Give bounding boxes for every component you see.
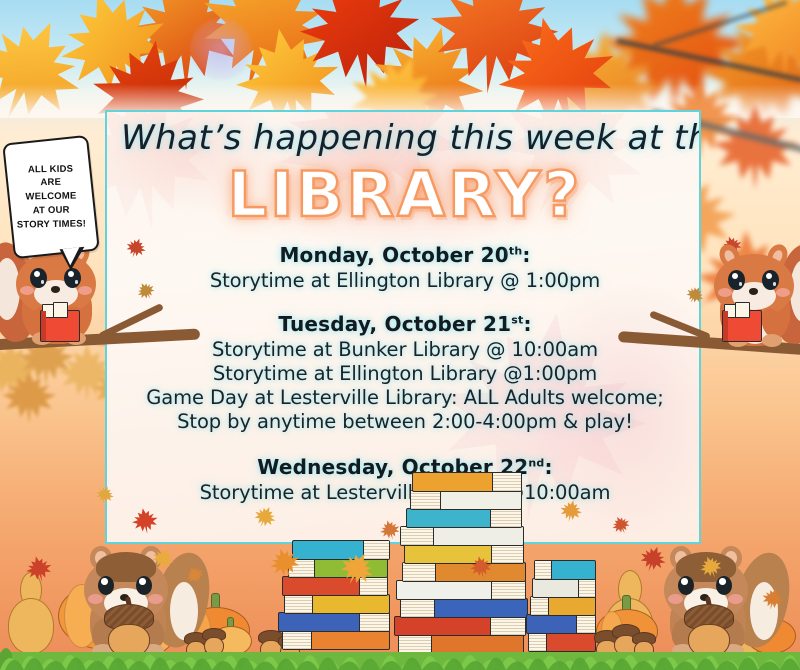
all-kids-welcome-bubble: ALL KIDS ARE WELCOME AT OUR STORY TIMES!: [2, 135, 100, 259]
library-events-poster: What’s happening this week at the LIBRAR…: [0, 0, 800, 670]
day-heading-monday: Monday, October 20th:: [107, 243, 701, 267]
leaf-icon: [130, 506, 160, 536]
book-icon: [722, 310, 762, 342]
bubble-line: AT OUR: [33, 204, 70, 218]
schedule-day-wednesday: Wednesday, October 22nd: Storytime at Le…: [107, 455, 701, 504]
spacer: [107, 293, 701, 312]
page-title: What’s happening this week at the: [121, 118, 693, 158]
events-content-panel: What’s happening this week at the LIBRAR…: [105, 110, 701, 544]
bubble-line: STORY TIMES!: [17, 217, 86, 232]
event-item: Storytime at Bunker Library @ 10:00am: [107, 338, 701, 361]
event-item: Storytime at Lesterville Library @10:00a…: [107, 481, 701, 504]
schedule-list: Monday, October 20th: Storytime at Ellin…: [107, 243, 701, 505]
event-item: Game Day at Lesterville Library: ALL Adu…: [107, 386, 701, 409]
bubble-line: ALL KIDS: [28, 162, 73, 177]
bubble-line: ARE: [40, 176, 61, 190]
spacer: [107, 434, 701, 455]
leaf-icon: [468, 554, 494, 580]
book-icon: [40, 310, 80, 342]
event-item: Stop by anytime between 2:00-4:00pm & pl…: [107, 410, 701, 433]
schedule-day-monday: Monday, October 20th: Storytime at Ellin…: [107, 243, 701, 292]
bubble-line: WELCOME: [25, 190, 76, 205]
event-item: Storytime at Ellington Library @ 1:00pm: [107, 269, 701, 292]
event-item: Storytime at Ellington Library @1:00pm: [107, 362, 701, 385]
grass-strip: [0, 636, 800, 670]
library-wordmark: LIBRARY?: [107, 158, 701, 231]
lens-flare-bokeh: [190, 18, 252, 80]
day-heading-wednesday: Wednesday, October 22nd:: [107, 455, 701, 479]
bubble-tail: [60, 247, 87, 271]
squirrel-reading-book-right: [692, 238, 800, 350]
leaf-icon: [558, 498, 584, 524]
